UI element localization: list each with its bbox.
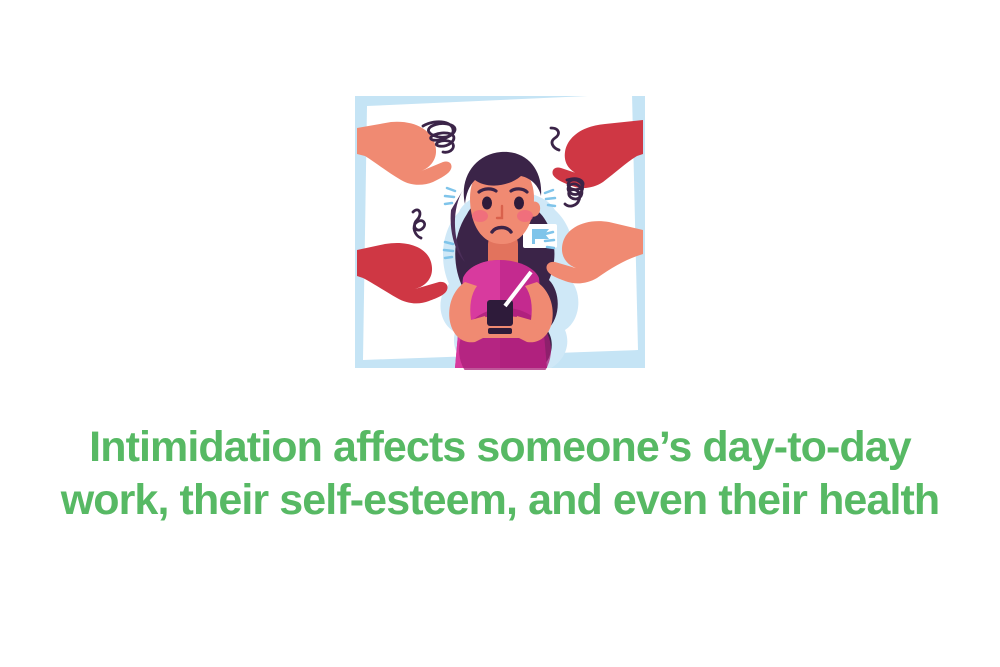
cheek-left [472,210,488,222]
page-headline: Intimidation affects someone’s day-to-da… [60,421,940,528]
eye-left [482,197,492,210]
eye-right [514,197,524,210]
intimidation-illustration [355,92,645,370]
page-root: Intimidation affects someone’s day-to-da… [0,0,1000,667]
phone-in-hands [487,300,513,334]
illustration-container [355,92,645,370]
cheek-right [517,210,533,222]
